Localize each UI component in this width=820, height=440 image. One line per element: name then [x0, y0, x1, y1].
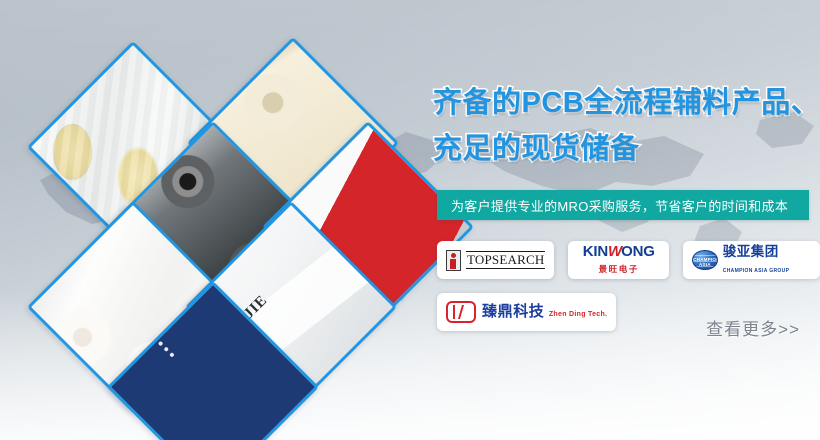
zhending-icon [446, 301, 476, 323]
topsearch-icon [446, 250, 461, 271]
champion-asia-label-cn: 骏亚集团 [723, 244, 779, 259]
logo-zhen-ding[interactable]: 臻鼎科技 Zhen Ding Tech. [437, 293, 616, 331]
kinwong-icon: W [608, 243, 621, 260]
banner-text-panel: 齐备的PCB全流程辅料产品、 充足的现货储备 为客户提供专业的MRO采购服务，节… [425, 0, 820, 440]
kinwong-wordmark: KINWONG [583, 243, 655, 260]
product-collage: JIE [0, 0, 430, 440]
logo-topsearch[interactable]: TOPSEARCH [437, 241, 554, 279]
globe-label: CHAMPION ASIA [693, 257, 717, 267]
zhending-label-en: Zhen Ding Tech. [549, 311, 607, 318]
champion-asia-label-en: CHAMPION ASIA GROUP [723, 268, 790, 274]
logo-kinwong[interactable]: KINWONG 景旺电子 [568, 241, 669, 279]
partner-logo-row-1: TOPSEARCH KINWONG 景旺电子 CHAMPION ASIA 骏亚集… [437, 241, 820, 279]
logo-champion-asia[interactable]: CHAMPION ASIA 骏亚集团 CHAMPION ASIA GROUP [683, 241, 820, 279]
panel-dots-icon [151, 338, 177, 364]
kinwong-label-a: KIN [583, 243, 608, 260]
zhending-label-cn: 臻鼎科技 [482, 303, 544, 320]
topsearch-label: TOPSEARCH [466, 251, 545, 268]
kinwong-label-c: ONG [621, 243, 655, 260]
partner-logo-row-2: 臻鼎科技 Zhen Ding Tech. [437, 293, 616, 331]
kinwong-label-cn: 景旺电子 [599, 264, 639, 274]
headline-line-2: 充足的现货储备 [433, 134, 640, 165]
headline-line-1: 齐备的PCB全流程辅料产品、 [433, 88, 820, 119]
globe-icon: CHAMPION ASIA [692, 250, 718, 270]
view-more-link[interactable]: 查看更多>> [706, 315, 800, 340]
promo-banner: JIE 齐备的PCB全流程辅料产品、 充足的现货储备 为客户提供专业的MRO采购… [0, 0, 820, 440]
subtitle-bar: 为客户提供专业的MRO采购服务，节省客户的时间和成本 [437, 190, 809, 220]
subtitle-text: 为客户提供专业的MRO采购服务，节省客户的时间和成本 [451, 196, 788, 215]
